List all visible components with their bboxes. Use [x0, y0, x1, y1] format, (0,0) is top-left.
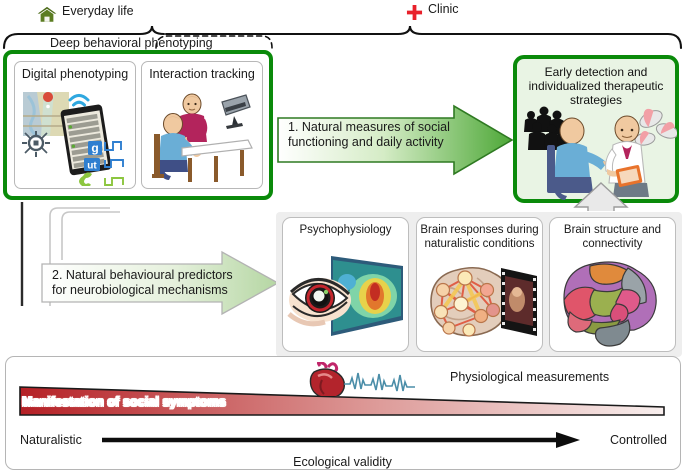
mechanism-panel-strip: Psychophysiology Brain responses during … — [276, 212, 682, 357]
card-psychophysiology[interactable]: Psychophysiology — [282, 217, 409, 352]
tablet-map-wifi-icon: g ut — [20, 86, 132, 186]
card-title-digital-phenotyping: Digital phenotyping — [15, 67, 135, 81]
house-icon — [36, 6, 58, 23]
red-cross-icon — [406, 4, 423, 21]
card-brain-responses[interactable]: Brain responses during naturalistic cond… — [416, 217, 543, 352]
top-bracket-zone: Everyday life Clinic Deep behavioral phe… — [0, 0, 685, 52]
card-brain-structure[interactable]: Brain structure and connectivity — [549, 217, 676, 352]
everyday-life-frame: Digital phenotyping — [3, 50, 273, 200]
svg-text:ut: ut — [87, 161, 97, 172]
parcellated-brain-icon — [556, 256, 670, 348]
clinic-outcome-box[interactable]: Early detection and individualized thera… — [513, 55, 679, 203]
ecological-validity-axis-arrow — [100, 430, 590, 452]
card-title-brain-structure: Brain structure and connectivity — [553, 224, 672, 251]
card-digital-phenotyping[interactable]: Digital phenotyping — [14, 61, 136, 189]
clinic-up-arrow-icon — [571, 181, 631, 211]
everyday-life-label: Everyday life — [62, 4, 134, 18]
clinic-box-title: Early detection and individualized thera… — [521, 65, 671, 107]
card-interaction-tracking[interactable]: Interaction tracking — [141, 61, 263, 189]
clinic-bracket — [166, 26, 681, 48]
card-title-interaction-tracking: Interaction tracking — [142, 67, 262, 81]
card-title-brain-responses: Brain responses during naturalistic cond… — [420, 224, 539, 251]
card-title-psychophysiology: Psychophysiology — [286, 224, 405, 238]
svg-text:g: g — [91, 141, 98, 155]
arrow-1-text: 1. Natural measures of social functionin… — [288, 120, 468, 150]
physiological-measurements-label: Physiological measurements — [450, 370, 609, 384]
eye-heatmap-icon — [287, 248, 405, 348]
physiological-measurements-row: Physiological measurements — [300, 362, 670, 396]
clinic-label: Clinic — [428, 2, 459, 16]
wedge-label: Manifestation of social symptoms — [22, 395, 226, 409]
two-people-at-table-icon — [148, 86, 258, 186]
deep-phenotyping-label: Deep behavioral phenotyping — [50, 36, 213, 50]
arrow-2-text: 2. Natural behavioural predictors for ne… — [52, 268, 244, 298]
brain-network-film-icon — [421, 260, 539, 346]
axis-label-controlled: Controlled — [610, 433, 667, 447]
axis-caption: Ecological validity — [0, 455, 685, 469]
axis-label-naturalistic: Naturalistic — [20, 433, 82, 447]
heart-ecg-icon — [300, 362, 450, 396]
